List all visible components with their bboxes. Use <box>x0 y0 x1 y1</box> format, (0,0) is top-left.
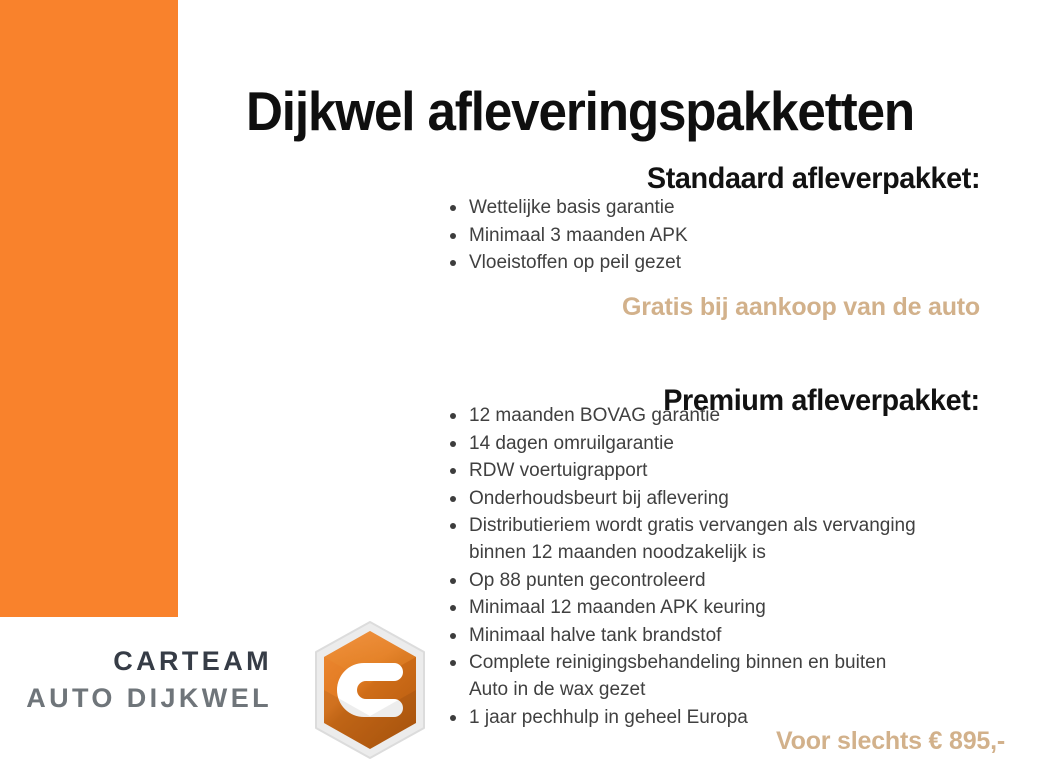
accent-text-standaard: Gratis bij aankoop van de auto <box>622 292 980 322</box>
list-item: Op 88 punten gecontroleerd <box>448 567 916 594</box>
list-item: Vloeistoffen op peil gezet <box>448 249 688 276</box>
poster-canvas: Dijkwel afleveringspakketten Standaard a… <box>0 0 1064 768</box>
list-item-label: RDW voertuigrapport <box>469 457 916 484</box>
bullet-icon <box>450 233 456 239</box>
bullet-icon <box>450 660 456 666</box>
bullet-icon <box>450 633 456 639</box>
feature-list-premium: 12 maanden BOVAG garantie 14 dagen omrui… <box>448 402 916 731</box>
list-item: 14 dagen omruilgarantie <box>448 430 916 457</box>
brand-name-auto-dijkwel: AUTO DIJKWEL <box>0 682 272 715</box>
list-item: 12 maanden BOVAG garantie <box>448 402 916 429</box>
bullet-icon <box>450 413 456 419</box>
list-item: Onderhoudsbeurt bij aflevering <box>448 485 916 512</box>
bullet-icon <box>450 715 456 721</box>
section-heading-standaard: Standaard afleverpakket: <box>647 161 980 197</box>
list-item-label: Minimaal 3 maanden APK <box>469 222 688 249</box>
list-item: Wettelijke basis garantie <box>448 194 688 221</box>
list-item-label: Onderhoudsbeurt bij aflevering <box>469 485 916 512</box>
list-item-label: Minimaal 12 maanden APK keuring <box>469 594 916 621</box>
bullet-icon <box>450 523 456 529</box>
list-item: Distributieriem wordt gratis vervangen a… <box>448 512 916 566</box>
bullet-icon <box>450 496 456 502</box>
bullet-icon <box>450 260 456 266</box>
bullet-icon <box>450 578 456 584</box>
list-item: RDW voertuigrapport <box>448 457 916 484</box>
bullet-icon <box>450 468 456 474</box>
list-item: Complete reinigingsbehandeling binnen en… <box>448 649 916 703</box>
list-item-label: 12 maanden BOVAG garantie <box>469 402 916 429</box>
list-item-label: Minimaal halve tank brandstof <box>469 622 916 649</box>
list-item-label: Complete reinigingsbehandeling binnen en… <box>469 649 916 703</box>
list-item: Minimaal 12 maanden APK keuring <box>448 594 916 621</box>
brand-name-carteam: CARTEAM <box>0 645 272 678</box>
accent-text-premium-price: Voor slechts € 895,- <box>776 726 1005 756</box>
bullet-icon <box>450 605 456 611</box>
bullet-icon <box>450 205 456 211</box>
list-item-label: Distributieriem wordt gratis vervangen a… <box>469 512 916 566</box>
carteam-hexagon-c-logo-icon <box>306 618 434 762</box>
page-title: Dijkwel afleveringspakketten <box>208 81 952 141</box>
brand-lockup: CARTEAM AUTO DIJKWEL <box>0 645 272 715</box>
feature-list-standaard: Wettelijke basis garantie Minimaal 3 maa… <box>448 194 688 277</box>
orange-side-block <box>0 0 178 617</box>
list-item-label: Vloeistoffen op peil gezet <box>469 249 688 276</box>
bullet-icon <box>450 441 456 447</box>
list-item-label: 14 dagen omruilgarantie <box>469 430 916 457</box>
list-item: Minimaal halve tank brandstof <box>448 622 916 649</box>
list-item: Minimaal 3 maanden APK <box>448 222 688 249</box>
list-item-label: Op 88 punten gecontroleerd <box>469 567 916 594</box>
list-item-label: Wettelijke basis garantie <box>469 194 688 221</box>
